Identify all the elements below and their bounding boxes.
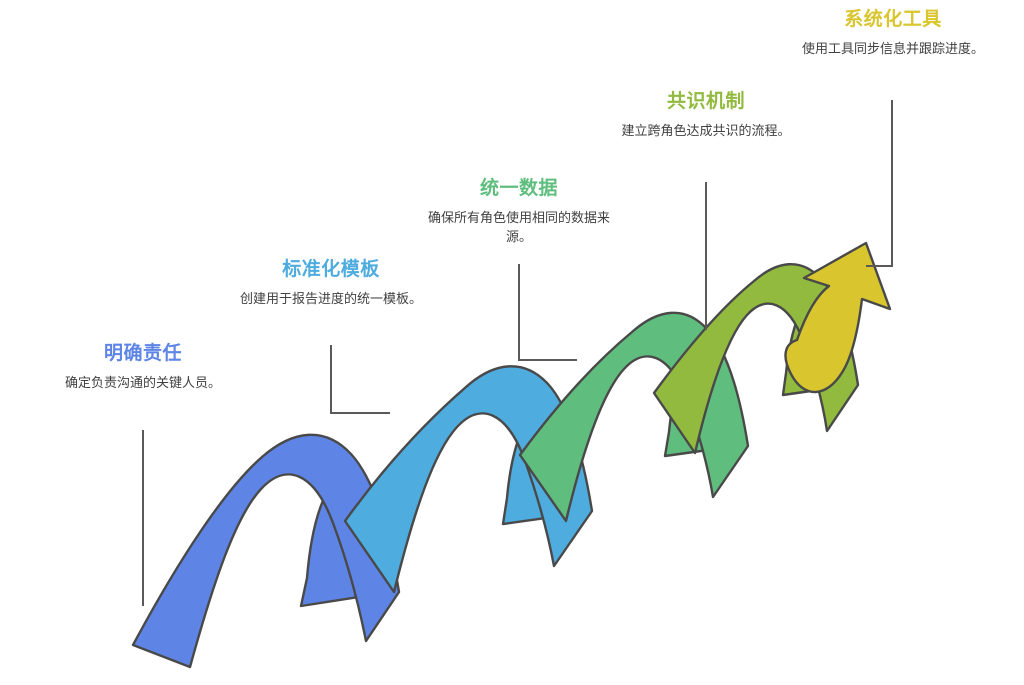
connector-line-3: [519, 264, 577, 360]
stage-label-3: 统一数据 确保所有角色使用相同的数据来源。: [404, 177, 634, 247]
stage-description-5: 使用工具同步信息并跟踪进度。: [778, 39, 1008, 59]
stage-description-2: 创建用于报告进度的统一模板。: [216, 289, 446, 309]
stage-description-3: 确保所有角色使用相同的数据来源。: [404, 208, 634, 247]
stage-title-2: 标准化模板: [216, 258, 446, 282]
stage-label-2: 标准化模板 创建用于报告进度的统一模板。: [216, 258, 446, 308]
connector-line-2: [331, 345, 390, 413]
stage-title-4: 共识机制: [591, 90, 821, 114]
connector-line-5: [866, 100, 892, 266]
stage-title-3: 统一数据: [404, 177, 634, 201]
stage-title-1: 明确责任: [28, 342, 258, 366]
stage-description-4: 建立跨角色达成共识的流程。: [591, 121, 821, 141]
infographic-canvas: 明确责任 确定负责沟通的关键人员。 标准化模板 创建用于报告进度的统一模板。 统…: [0, 0, 1024, 685]
stage-label-4: 共识机制 建立跨角色达成共识的流程。: [591, 90, 821, 140]
stage-label-1: 明确责任 确定负责沟通的关键人员。: [28, 342, 258, 392]
ribbon-segment-1-front: [133, 435, 399, 667]
stage-label-5: 系统化工具 使用工具同步信息并跟踪进度。: [778, 8, 1008, 58]
stage-description-1: 确定负责沟通的关键人员。: [28, 373, 258, 393]
ribbon-segment-1: [133, 435, 399, 667]
stage-title-5: 系统化工具: [778, 8, 1008, 32]
